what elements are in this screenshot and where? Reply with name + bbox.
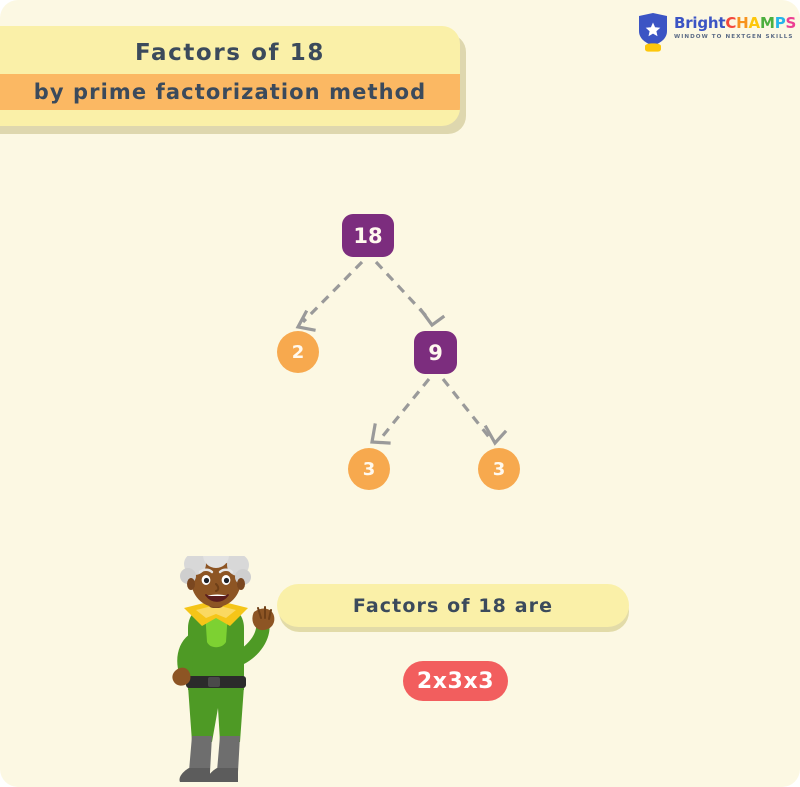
factor-node-3-right[interactable]: 3 <box>478 448 520 490</box>
infographic-canvas: Factors of 18 by prime factorization met… <box>0 0 800 787</box>
result-expression-pill: 2x3x3 <box>403 661 508 701</box>
arrowhead-to-3b <box>486 427 505 443</box>
edge-9-to-3b <box>443 379 489 437</box>
factor-node-2[interactable]: 2 <box>277 331 319 373</box>
factor-node-9[interactable]: 9 <box>414 331 457 374</box>
result-caption-pill: Factors of 18 are <box>277 584 631 632</box>
teacher-character <box>150 556 282 787</box>
factor-node-18[interactable]: 18 <box>342 214 394 257</box>
edge-18-to-2 <box>303 262 362 322</box>
factor-node-3-left[interactable]: 3 <box>348 448 390 490</box>
factor-tree-connectors <box>0 0 800 787</box>
arrowhead-to-9 <box>421 310 443 325</box>
result-caption-text: Factors of 18 are <box>277 584 629 627</box>
edge-9-to-3a <box>382 379 429 437</box>
